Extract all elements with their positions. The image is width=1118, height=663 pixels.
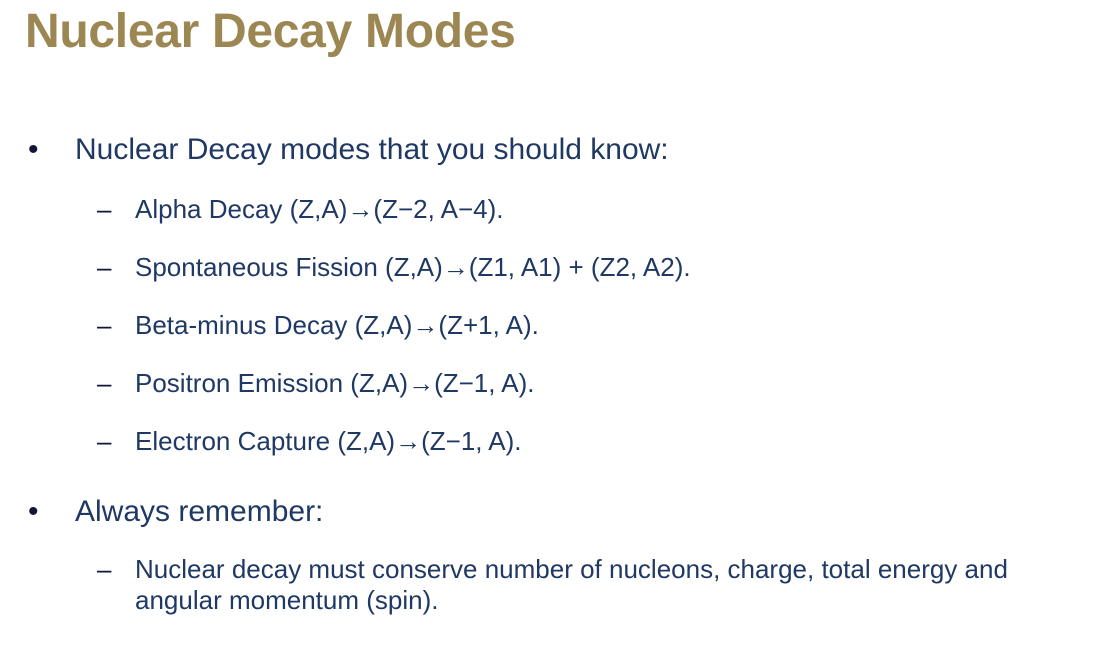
slide-canvas: Nuclear Decay Modes • Nuclear Decay mode… — [0, 0, 1118, 663]
page-title: Nuclear Decay Modes — [25, 2, 516, 62]
bullet-dash-icon: – — [97, 252, 123, 283]
bullet-dot-icon: • — [28, 495, 50, 529]
list-item-label: Positron Emission (Z,A)→(Z−1, A). — [135, 368, 1118, 399]
list-item-label: Nuclear Decay modes that you should know… — [75, 133, 1118, 167]
list-item: • Nuclear Decay modes that you should kn… — [0, 133, 1118, 167]
list-item: – Beta-minus Decay (Z,A)→(Z+1, A). — [0, 310, 1118, 341]
list-item-label: Beta-minus Decay (Z,A)→(Z+1, A). — [135, 310, 1118, 341]
list-item: • Always remember: — [0, 495, 1118, 529]
bullet-dash-icon: – — [97, 194, 123, 225]
list-item-label: Nuclear decay must conserve number of nu… — [135, 554, 1118, 616]
list-item: – Alpha Decay (Z,A)→(Z−2, A−4). — [0, 194, 1118, 225]
bullet-dot-icon: • — [28, 133, 50, 167]
list-item-label: Electron Capture (Z,A)→(Z−1, A). — [135, 426, 1118, 457]
list-item: – Positron Emission (Z,A)→(Z−1, A). — [0, 368, 1118, 399]
list-item-label: Always remember: — [75, 495, 1118, 529]
bullet-dash-icon: – — [97, 368, 123, 399]
list-item-label: Alpha Decay (Z,A)→(Z−2, A−4). — [135, 194, 1118, 225]
bullet-dash-icon: – — [97, 554, 123, 585]
bullet-dash-icon: – — [97, 426, 123, 457]
bullet-dash-icon: – — [97, 310, 123, 341]
list-item: – Nuclear decay must conserve number of … — [0, 554, 1118, 616]
slide-body-list: • Nuclear Decay modes that you should kn… — [0, 118, 1118, 616]
list-item-label: Spontaneous Fission (Z,A)→(Z1, A1) + (Z2… — [135, 252, 1118, 283]
list-item: – Electron Capture (Z,A)→(Z−1, A). — [0, 426, 1118, 457]
list-item: – Spontaneous Fission (Z,A)→(Z1, A1) + (… — [0, 252, 1118, 283]
